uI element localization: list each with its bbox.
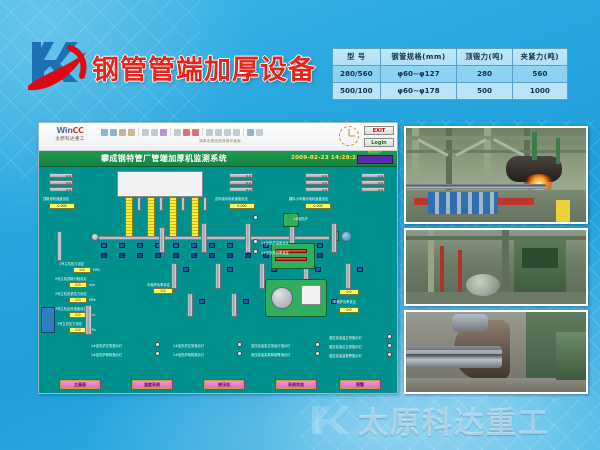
roller-unit	[191, 243, 197, 248]
status-item-label: 2#加热炉正常指示灯	[173, 343, 204, 348]
induction-coil	[147, 197, 155, 237]
meter-display: 0.0	[305, 187, 329, 192]
parameter-unit: MPa	[93, 268, 100, 272]
meter-display: 0.0	[361, 180, 385, 185]
table-cell: 280	[457, 65, 512, 82]
right-panel-note: 中频炉功率设定	[333, 299, 356, 304]
clamp-unit	[209, 253, 215, 258]
hmi-system-header: 攀成钢特管厂管端加厚机监测系统 2009-02-23 14:29:24 登录用户	[39, 151, 397, 167]
nav-button-main[interactable]: 主画面	[59, 379, 101, 390]
heating-hood	[117, 171, 203, 197]
zoom-in-icon[interactable]	[142, 129, 149, 136]
group-heading: 翻料小车驱动电机速度设定	[289, 196, 328, 201]
wincc-logo: WinCC 太原科达重工	[42, 125, 98, 149]
nav-button-status[interactable]: 系统状态	[275, 379, 317, 390]
table-cell: 560	[512, 65, 567, 82]
settings-icon[interactable]	[247, 129, 254, 136]
right-panel-value[interactable]: 0.0	[339, 289, 359, 295]
toolbar-divider	[170, 128, 171, 136]
clamp-unit	[173, 253, 179, 258]
nav-button-temp[interactable]: 温度系统	[131, 379, 173, 390]
help-icon[interactable]	[256, 129, 263, 136]
wincc-sub-label: 太原科达重工	[42, 136, 98, 144]
pump-motor	[271, 287, 293, 309]
table-cell: 1000	[512, 82, 567, 99]
clamp-unit	[245, 253, 251, 258]
toolbar-divider	[202, 128, 203, 136]
clamp-unit	[137, 253, 143, 258]
open-icon[interactable]	[101, 129, 108, 136]
group-heading: 送料驱动电机速度设定	[215, 196, 248, 201]
burner-nozzle	[137, 197, 141, 211]
zoom-out-icon[interactable]	[151, 129, 158, 136]
burner-nozzle	[159, 197, 163, 211]
table-cell: φ60~φ178	[380, 82, 457, 99]
center-value[interactable]: 0.0	[153, 288, 173, 294]
meter-display: 0.0	[229, 173, 253, 178]
status-item-label: 1#加热炉故障指示灯	[91, 352, 122, 357]
parameter-label: 3号主机压力设定	[57, 321, 82, 326]
right-panel-value[interactable]: 0.0	[339, 307, 359, 313]
right-panel-row-label: 1#加热炉温度设定	[261, 240, 289, 245]
valve-symbol	[227, 267, 233, 272]
burner-nozzle	[181, 197, 185, 211]
status-lamp	[237, 342, 242, 347]
grid-icon[interactable]	[206, 129, 213, 136]
parameter-unit: MPa	[89, 298, 96, 302]
hydraulic-cylinder	[331, 223, 337, 253]
status-lamp	[387, 352, 392, 357]
hmi-system-title: 攀成钢特管厂管端加厚机监测系统	[101, 153, 227, 164]
status-item-label: 液压站油温报警指示灯	[329, 353, 362, 358]
clamp-unit	[119, 253, 125, 258]
hydraulic-cylinder	[345, 263, 351, 289]
hmi-mimic-diagram: 0.0 0.0 0.0 顶锻电机速度设定 0.000 0.0 0.0 0.0 送…	[39, 167, 398, 394]
clamp-unit	[155, 253, 161, 258]
status-item-label: 液压站油泵正常运行指示灯	[251, 343, 290, 348]
setpoint-value[interactable]: 0.000	[305, 203, 331, 209]
status-lamp	[155, 342, 160, 347]
parameter-unit: mm	[89, 283, 95, 287]
induction-coil	[125, 197, 133, 237]
wincc-wordmark: WinCC	[42, 125, 98, 136]
status-lamp	[315, 351, 320, 356]
clamp-unit	[227, 253, 233, 258]
table-row: 280/560 φ60~φ127 280 560	[333, 65, 568, 82]
kd-swoosh-logo	[26, 38, 92, 94]
roller-unit	[227, 243, 233, 248]
status-item-label: 液压站油温正常指示灯	[329, 335, 362, 340]
list-icon[interactable]	[215, 129, 222, 136]
parameter-value[interactable]: 0.0	[73, 267, 91, 273]
hmi-toolbar-caption: 请单击按钮选择操作画面	[101, 139, 339, 144]
table-cell: 500/100	[333, 82, 381, 99]
oil-tank	[301, 285, 321, 305]
meter-display: 0.0	[49, 180, 73, 185]
photo-workshop-equipment	[404, 228, 588, 306]
roller-unit	[137, 243, 143, 248]
roller-unit	[119, 243, 125, 248]
hmi-screenshot-panel: WinCC 太原科达重工	[38, 122, 398, 394]
user-icon[interactable]	[192, 129, 199, 136]
hydraulic-cylinder	[215, 263, 221, 289]
meter-display: 0.0	[305, 173, 329, 178]
group-heading: 顶锻电机速度设定	[43, 196, 69, 201]
hmi-titlebar: WinCC 太原科达重工	[39, 123, 397, 151]
meter-display: 0.0	[361, 187, 385, 192]
exit-button[interactable]: EXIT	[364, 126, 394, 135]
trend-icon[interactable]	[224, 129, 231, 136]
spec-table: 型 号 钢管规格(mm) 顶锻力(吨) 夹紧力(吨) 280/560 φ60~φ…	[332, 48, 568, 100]
valve-symbol	[357, 267, 363, 272]
hydraulic-cylinder	[201, 223, 207, 253]
valve-symbol	[183, 267, 189, 272]
table-row: 500/100 φ60~φ178 500 1000	[333, 82, 568, 99]
induction-coil	[169, 197, 177, 237]
right-panel-label: 1#加热炉	[293, 216, 308, 221]
status-item-label: 2#加热炉故障指示灯	[173, 352, 204, 357]
status-lamp	[253, 239, 258, 244]
hydraulic-cylinder	[187, 293, 193, 317]
drive-motor	[341, 231, 352, 242]
copy-icon[interactable]	[128, 129, 135, 136]
kd-logo-mark-icon	[308, 402, 352, 438]
valve-symbol	[199, 299, 205, 304]
photo-rolling-mill-line	[404, 126, 588, 224]
status-lamp	[387, 343, 392, 348]
status-lamp	[253, 215, 258, 220]
clock-icon	[339, 126, 359, 146]
meter-display: 0.0	[229, 180, 253, 185]
status-lamp	[253, 249, 258, 254]
meter-display: 0.0	[361, 173, 385, 178]
hmi-datetime: 2009-02-23 14:29:24	[291, 155, 360, 161]
clamp-unit	[191, 253, 197, 258]
toolbar-divider	[243, 128, 244, 136]
meter-display: 0.0	[229, 187, 253, 192]
hydraulic-cylinder	[85, 305, 92, 335]
hmi-user-field[interactable]	[357, 155, 393, 164]
meter-display: 0.0	[305, 180, 329, 185]
parameter-label: 3号主机出料速度设定	[55, 306, 87, 311]
nav-button-alarm[interactable]: 报警	[339, 379, 381, 390]
feed-column	[57, 231, 62, 261]
right-panel-row-label: 1#加热炉功率设定	[261, 250, 289, 255]
table-cell: 500	[457, 82, 512, 99]
table-header-cell: 型 号	[333, 49, 381, 66]
parameter-value[interactable]: 0.0	[69, 282, 87, 288]
meter-display: 0.0	[49, 187, 73, 192]
status-lamp	[315, 342, 320, 347]
pressure-indicator	[275, 257, 307, 261]
feed-cabinet	[41, 307, 55, 333]
drive-motor	[91, 233, 99, 241]
status-lamp	[387, 334, 392, 339]
parameter-value[interactable]: 0.0	[69, 297, 87, 303]
save-icon[interactable]	[110, 129, 117, 136]
hydraulic-cylinder	[159, 227, 165, 253]
setpoint-value[interactable]: 0.000	[49, 203, 75, 209]
hydraulic-cylinder	[171, 263, 177, 289]
parameter-label: 2号主机夹紧压力设定	[55, 291, 87, 296]
clamp-unit	[101, 253, 107, 258]
hydraulic-cylinder	[245, 223, 251, 253]
valve-symbol	[243, 299, 249, 304]
status-lamp	[237, 351, 242, 356]
hydraulic-cylinder	[231, 293, 237, 317]
roller-unit	[317, 243, 323, 248]
table-header-cell: 顶锻力(吨)	[457, 49, 512, 66]
status-item-label: 液压站油泵故障报警指示灯	[251, 352, 290, 357]
meter-display: 0.0	[49, 173, 73, 178]
info-icon[interactable]	[174, 129, 181, 136]
burner-nozzle	[203, 197, 207, 211]
nav-button-hydr[interactable]: 液压站	[203, 379, 245, 390]
report-icon[interactable]	[233, 129, 240, 136]
roller-unit	[209, 243, 215, 248]
page-title: 钢管管端加厚设备	[92, 48, 316, 87]
table-header-cell: 钢管规格(mm)	[380, 49, 457, 66]
valve-symbol	[315, 267, 321, 272]
setpoint-value[interactable]: 0.000	[229, 203, 255, 209]
watermark-text: 太原科达重工	[358, 398, 550, 442]
login-button[interactable]: Login	[364, 138, 394, 147]
hydraulic-manifold	[271, 243, 315, 269]
slide-canvas: 钢管管端加厚设备 型 号 钢管规格(mm) 顶锻力(吨) 夹紧力(吨) 280/…	[0, 0, 600, 450]
hmi-button-bar: 主画面 温度系统 液压站 系统状态 报警	[39, 379, 398, 391]
alarm-icon[interactable]	[183, 129, 190, 136]
table-cell: φ60~φ127	[380, 65, 457, 82]
toolbar-divider	[138, 128, 139, 136]
watermark: 太原科达重工	[308, 396, 600, 444]
clamp-unit	[317, 253, 323, 258]
induction-coil	[191, 197, 199, 237]
status-item-label: 液压站油位正常指示灯	[329, 344, 362, 349]
photo-thickened-pipe-end	[404, 310, 588, 394]
parameter-label: 1号主机压力设定	[59, 261, 84, 266]
status-lamp	[155, 351, 160, 356]
roller-unit	[173, 243, 179, 248]
chart-icon[interactable]	[160, 129, 167, 136]
print-icon[interactable]	[119, 129, 126, 136]
center-label: 中频炉功率设定	[147, 282, 170, 287]
roller-unit	[101, 243, 107, 248]
table-header-row: 型 号 钢管规格(mm) 顶锻力(吨) 夹紧力(吨)	[333, 49, 568, 66]
status-item-label: 1#加热炉正常指示灯	[91, 343, 122, 348]
hmi-toolbar[interactable]	[101, 125, 339, 139]
table-header-cell: 夹紧力(吨)	[512, 49, 567, 66]
table-cell: 280/560	[333, 65, 381, 82]
parameter-label: 2号主机顶锻行程设定	[55, 276, 87, 281]
